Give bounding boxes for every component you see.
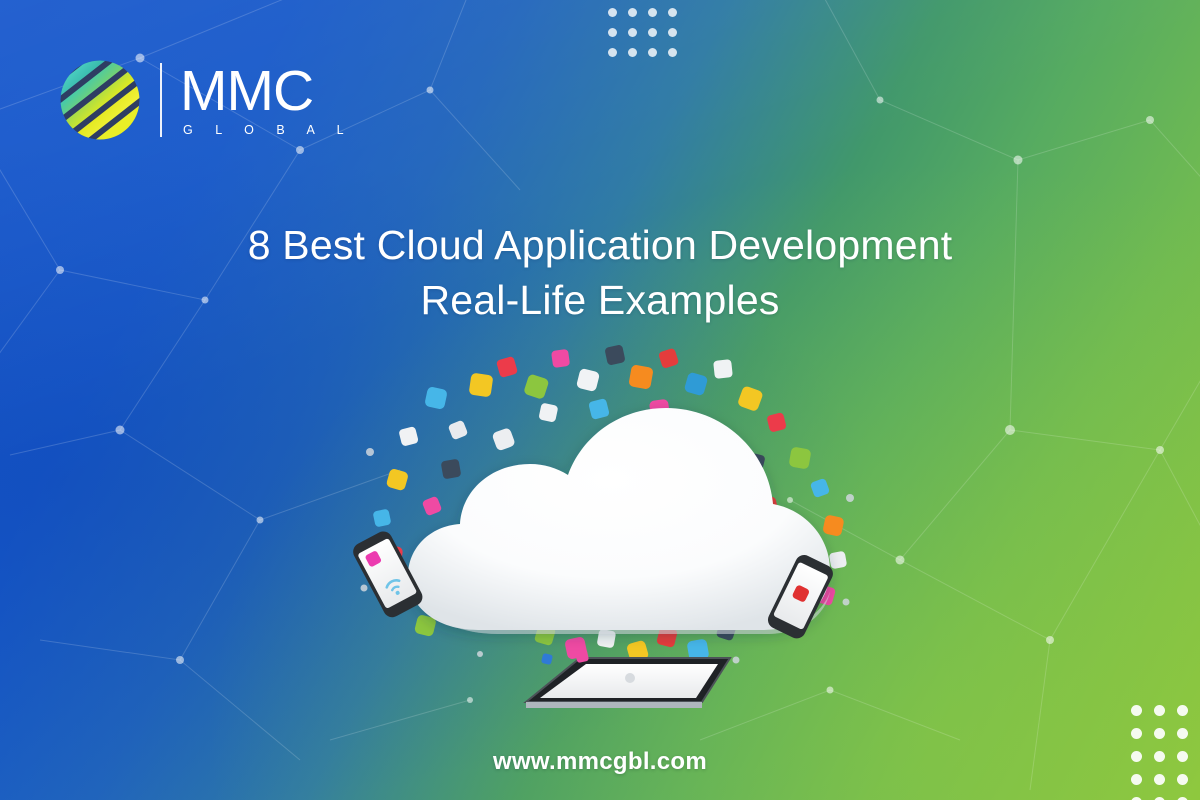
brand-logo[interactable]: MMC G L O B A L <box>58 58 353 142</box>
dot <box>628 28 637 37</box>
dot <box>608 8 617 17</box>
dot <box>1131 728 1142 739</box>
dot <box>1154 751 1165 762</box>
dot <box>668 28 677 37</box>
top-dot-grid <box>608 8 688 68</box>
cloud-illustration <box>330 330 890 730</box>
dot <box>1177 774 1188 785</box>
cloud-illustration-svg <box>330 330 890 730</box>
dot <box>668 8 677 17</box>
page-title-line-2: Real-Life Examples <box>120 273 1080 328</box>
dot <box>608 28 617 37</box>
logo-divider <box>160 63 162 137</box>
dot <box>1177 728 1188 739</box>
dot <box>668 48 677 57</box>
dot <box>648 48 657 57</box>
logo-tagline: G L O B A L <box>180 124 353 137</box>
dot <box>1154 705 1165 716</box>
footer-url[interactable]: www.mmcgbl.com <box>0 748 1200 776</box>
dot <box>648 8 657 17</box>
dot <box>628 48 637 57</box>
logo-name: MMC <box>180 63 353 120</box>
dot <box>1154 774 1165 785</box>
dot <box>648 28 657 37</box>
tablet-icon <box>526 649 730 708</box>
dot <box>1131 751 1142 762</box>
bottom-right-dot-grid <box>1131 705 1200 800</box>
dot <box>1154 728 1165 739</box>
logo-wordmark: MMC G L O B A L <box>180 63 353 137</box>
cloud-icon <box>408 408 830 634</box>
banner-canvas: MMC G L O B A L 8 Best Cloud Application… <box>0 0 1200 800</box>
dot <box>628 8 637 17</box>
dot <box>1177 705 1188 716</box>
dot <box>1177 751 1188 762</box>
page-title: 8 Best Cloud Application Development Rea… <box>0 218 1200 327</box>
dot <box>608 48 617 57</box>
page-title-line-1: 8 Best Cloud Application Development <box>120 218 1080 273</box>
globe-stripes-icon <box>58 58 142 142</box>
dot <box>1131 774 1142 785</box>
dot <box>1131 705 1142 716</box>
